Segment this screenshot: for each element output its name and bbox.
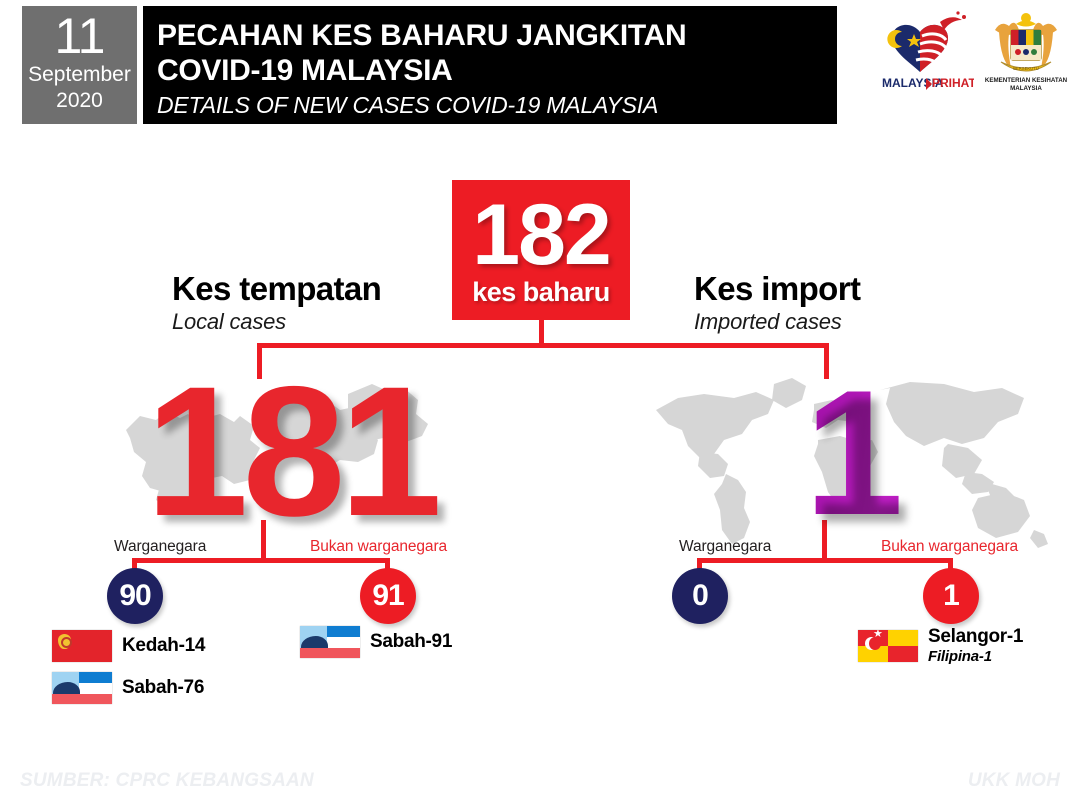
breakdown-row-selangor: ★ Selangor-1 Filipina-1: [858, 626, 1023, 666]
connector-main-horizontal: [257, 343, 829, 348]
svg-text:KEMENTERIAN KESIHATAN: KEMENTERIAN KESIHATAN: [985, 77, 1067, 84]
total-cases-number: 182: [472, 193, 610, 277]
date-year: 2020: [56, 88, 103, 114]
local-citizen-count-badge: 90: [107, 568, 163, 624]
local-cases-heading-en: Local cases: [172, 308, 381, 335]
connector-imported-horizontal: [697, 558, 953, 563]
sabah-flag-icon: [52, 672, 112, 704]
date-day: 11: [55, 10, 105, 62]
breakdown-row-sabah-noncitizen: Sabah-91: [300, 626, 452, 658]
local-noncitizen-count-badge: 91: [360, 568, 416, 624]
imported-cases-heading: Kes import Imported cases: [694, 270, 860, 335]
imported-noncitizen-count-badge: 1: [923, 568, 979, 624]
breakdown-row-sabah-citizen: Sabah-76: [52, 672, 204, 704]
local-cases-heading-ms: Kes tempatan: [172, 270, 381, 308]
breakdown-label-sabah-noncitizen: Sabah-91: [370, 631, 452, 653]
imported-cases-heading-en: Imported cases: [694, 308, 860, 335]
local-cases-number: 181: [86, 360, 496, 545]
selangor-flag-icon: ★: [858, 630, 918, 662]
breakdown-label-sabah-citizen: Sabah-76: [122, 677, 204, 699]
breakdown-row-kedah: Kedah-14: [52, 630, 205, 662]
local-cases-heading: Kes tempatan Local cases: [172, 270, 381, 335]
imported-citizen-label: Warganegara: [679, 538, 771, 556]
total-cases-label: kes baharu: [472, 277, 610, 307]
kedah-flag-icon: [52, 630, 112, 662]
malaysia-prihatin-logo: MALAYSIA PRIHATIN: [878, 8, 974, 94]
date-month: September: [28, 62, 131, 88]
title-line-1: PECAHAN KES BAHARU JANGKITAN: [157, 18, 837, 53]
imported-cases-number: 1: [648, 364, 1060, 542]
breakdown-label-kedah: Kedah-14: [122, 635, 205, 657]
svg-text:MALAYSIA: MALAYSIA: [1010, 85, 1042, 92]
svg-text:PRIHATIN: PRIHATIN: [932, 76, 974, 90]
sabah-flag-icon: [300, 626, 360, 658]
local-noncitizen-label: Bukan warganegara: [310, 538, 447, 556]
connector-local-horizontal: [132, 558, 390, 563]
footer-credit: UKK MOH: [968, 770, 1060, 792]
imported-citizen-count-badge: 0: [672, 568, 728, 624]
imported-noncitizen-label: Bukan warganegara: [881, 538, 1018, 556]
svg-text:BERSEKUTU: BERSEKUTU: [1013, 66, 1039, 71]
title-subtitle: DETAILS OF NEW CASES COVID-19 MALAYSIA: [157, 90, 837, 120]
title-bar: PECAHAN KES BAHARU JANGKITAN COVID-19 MA…: [143, 6, 837, 124]
kkm-coat-of-arms-logo: BERSEKUTU KEMENTERIAN KESIHATAN MALAYSIA: [985, 8, 1067, 94]
local-citizen-label: Warganegara: [114, 538, 206, 556]
breakdown-label-selangor: Selangor-1: [928, 626, 1023, 648]
date-badge: 11 September 2020: [22, 6, 137, 124]
footer-source: SUMBER: CPRC KEBANGSAAN: [20, 770, 314, 792]
local-cases-figure-block: 181: [86, 368, 496, 548]
infographic-canvas: 11 September 2020 PECAHAN KES BAHARU JAN…: [0, 0, 1080, 800]
imported-cases-figure-block: 1: [648, 368, 1060, 548]
total-cases-box: 182 kes baharu: [452, 180, 630, 320]
title-line-2: COVID-19 MALAYSIA: [157, 53, 837, 88]
breakdown-note-selangor: Filipina-1: [928, 648, 1023, 666]
imported-cases-heading-ms: Kes import: [694, 270, 860, 308]
